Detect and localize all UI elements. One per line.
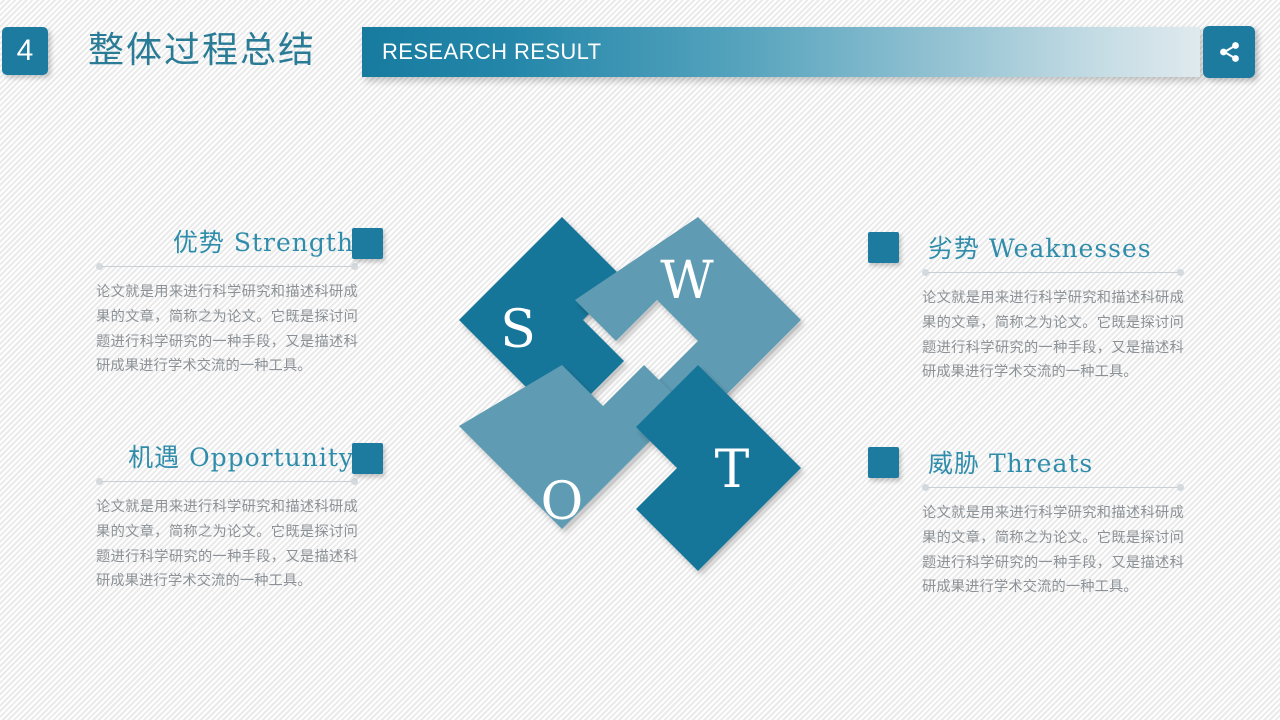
divider-dot-end [1177,484,1184,491]
swot-heading-weakness: 劣势 Weaknesses [922,232,1184,266]
divider-line [102,481,352,482]
swot-body-threat: 论文就是用来进行科学研究和描述科研成果的文章，简称之为论文。它既是探讨问题进行科… [922,501,1184,600]
swot-letter-s: S [500,300,536,360]
page-header: 4 整体过程总结 RESEARCH RESULT [0,0,1280,100]
banner-title: RESEARCH RESULT [382,27,602,77]
divider-strength [96,262,358,272]
swot-heading-opportunity: 机遇 Opportunity [96,441,358,475]
divider-line [928,487,1178,488]
divider-line [928,272,1178,273]
swot-heading-threat: 威胁 Threats [922,447,1184,481]
share-icon [1214,37,1244,67]
swot-heading-strength: 优势 Strength [96,226,358,260]
swot-diagram: S W O T [440,205,820,585]
divider-dot-end [351,478,358,485]
divider-dot-end [351,263,358,270]
divider-line [102,266,352,267]
swot-block-weakness: 劣势 Weaknesses 论文就是用来进行科学研究和描述科研成果的文章，简称之… [922,232,1184,385]
marker-square-strength [352,228,383,259]
divider-weakness [922,268,1184,278]
swot-body-weakness: 论文就是用来进行科学研究和描述科研成果的文章，简称之为论文。它既是探讨问题进行科… [922,286,1184,385]
divider-opportunity [96,477,358,487]
divider-threat [922,483,1184,493]
swot-block-threat: 威胁 Threats 论文就是用来进行科学研究和描述科研成果的文章，简称之为论文… [922,447,1184,600]
swot-body-strength: 论文就是用来进行科学研究和描述科研成果的文章，简称之为论文。它既是探讨问题进行科… [96,280,358,379]
banner-bar: RESEARCH RESULT [362,27,1200,77]
marker-square-weakness [868,232,899,263]
share-button[interactable] [1203,26,1255,78]
swot-block-opportunity: 机遇 Opportunity 论文就是用来进行科学研究和描述科研成果的文章，简称… [96,441,358,594]
marker-square-threat [868,447,899,478]
swot-letter-w: W [660,251,714,311]
swot-letter-o: O [541,472,584,532]
divider-dot-end [1177,269,1184,276]
swot-block-strength: 优势 Strength 论文就是用来进行科学研究和描述科研成果的文章，简称之为论… [96,226,358,379]
swot-letter-t: T [715,440,750,500]
section-number-badge: 4 [2,27,48,75]
swot-body-opportunity: 论文就是用来进行科学研究和描述科研成果的文章，简称之为论文。它既是探讨问题进行科… [96,495,358,594]
page-title: 整体过程总结 [88,28,316,74]
marker-square-opportunity [352,443,383,474]
